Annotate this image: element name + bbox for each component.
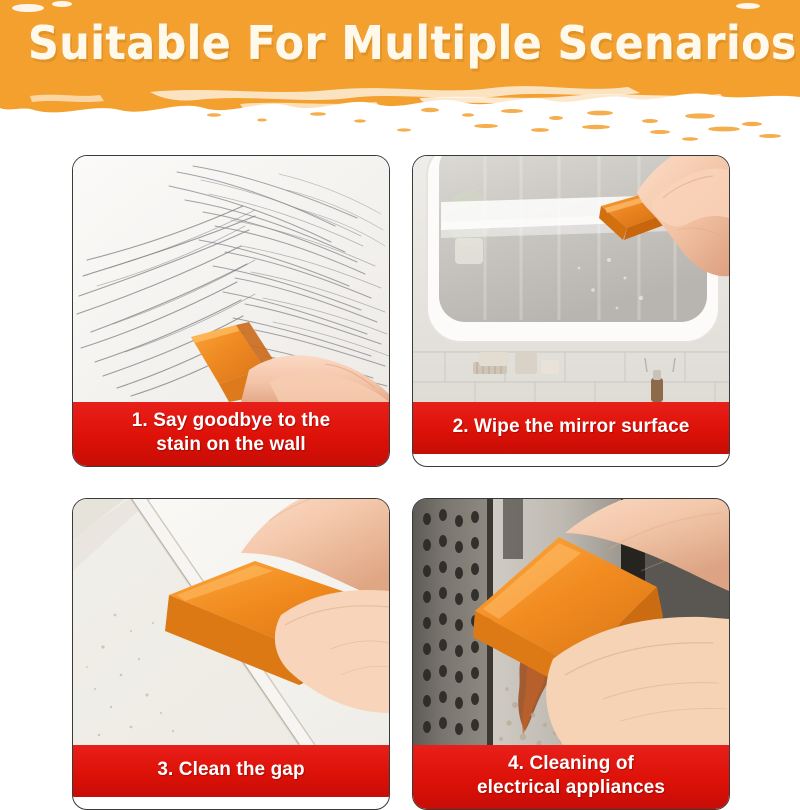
scenario-row-2: 3. Clean the gap [72, 498, 730, 810]
photo-wall-stain [73, 156, 389, 402]
caption-line-2a: 2. Wipe the mirror surface [419, 415, 723, 439]
scenario-card-4[interactable]: 4. Cleaning of electrical appliances [412, 498, 730, 810]
gap-cleaning-illustration [73, 499, 389, 745]
caption-bar-3: 3. Clean the gap [73, 745, 389, 797]
mirror-illustration [413, 156, 729, 402]
caption-bar-2: 2. Wipe the mirror surface [413, 402, 729, 454]
header-banner: Suitable For Multiple Scenarios Suitable… [0, 0, 800, 148]
caption-line-1b: stain on the wall [79, 433, 383, 457]
caption-bar-1: 1. Say goodbye to the stain on the wall [73, 402, 389, 466]
scenario-card-1[interactable]: 1. Say goodbye to the stain on the wall [72, 155, 390, 467]
caption-bar-4: 4. Cleaning of electrical appliances [413, 745, 729, 809]
photo-mirror-surface [413, 156, 729, 402]
appliance-illustration [413, 499, 729, 745]
photo-electrical-appliance [413, 499, 729, 745]
wall-scribble-illustration [73, 156, 389, 402]
scenario-row-1: 1. Say goodbye to the stain on the wall [72, 155, 730, 467]
scenario-card-2[interactable]: 2. Wipe the mirror surface [412, 155, 730, 467]
caption-line-4a: 4. Cleaning of [419, 752, 723, 776]
caption-line-1a: 1. Say goodbye to the [79, 409, 383, 433]
caption-line-3a: 3. Clean the gap [79, 758, 383, 782]
page-title: Suitable For Multiple Scenarios [28, 14, 772, 72]
scenario-card-3[interactable]: 3. Clean the gap [72, 498, 390, 810]
photo-clean-gap [73, 499, 389, 745]
brush-speckles [207, 108, 781, 141]
scenario-grid: 1. Say goodbye to the stain on the wall [72, 155, 730, 810]
caption-line-4b: electrical appliances [419, 776, 723, 800]
